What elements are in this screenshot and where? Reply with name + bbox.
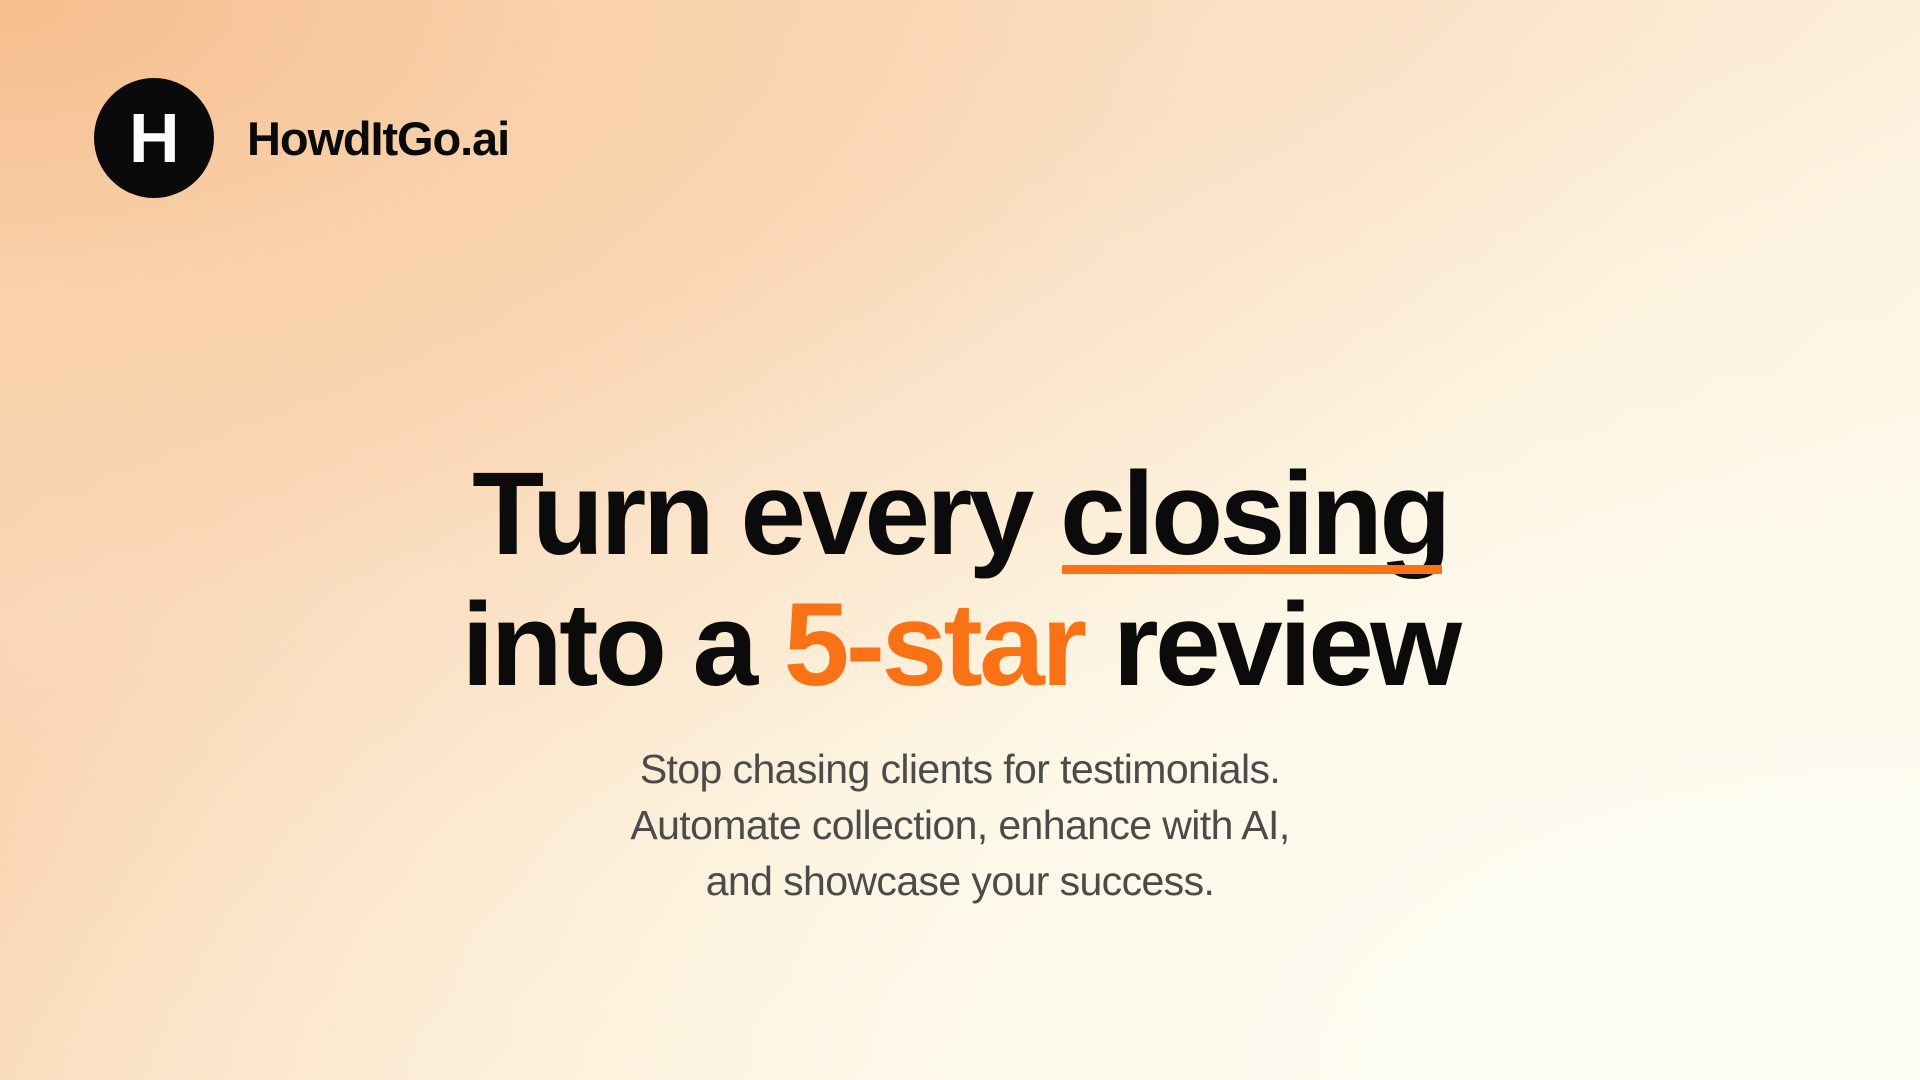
- subheading-line-2: Automate collection, enhance with AI,: [0, 797, 1920, 853]
- hero-banner: H HowdItGo.ai Turn every closing into a …: [0, 0, 1920, 1080]
- subheading-line-3: and showcase your success.: [0, 853, 1920, 909]
- headline-text-turn-every: Turn every: [472, 448, 1060, 580]
- headline-line-1: Turn every closing: [0, 449, 1920, 580]
- brand-lockup[interactable]: H HowdItGo.ai: [94, 78, 509, 198]
- logo-icon[interactable]: H: [94, 78, 214, 198]
- headline-text-review: review: [1084, 579, 1459, 711]
- brand-wordmark: HowdItGo.ai: [247, 115, 509, 162]
- subheading-line-1: Stop chasing clients for testimonials.: [0, 741, 1920, 797]
- logo-letter: H: [129, 103, 179, 173]
- headline-line-2: into a 5-star review: [0, 580, 1920, 711]
- page-title: Turn every closing into a 5-star review: [0, 449, 1920, 711]
- headline-text-into-a: into a: [462, 579, 784, 711]
- headline-underlined-closing: closing: [1060, 449, 1448, 580]
- headline-accent-5-star: 5-star: [784, 579, 1084, 711]
- subheading: Stop chasing clients for testimonials. A…: [0, 741, 1920, 909]
